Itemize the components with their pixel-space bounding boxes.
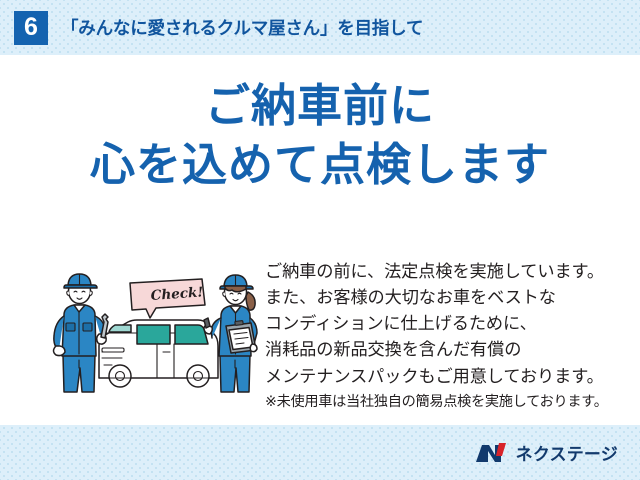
promo-banner: 6 「みんなに愛されるクルマ屋さん」を目指して ご納車前に 心を込めて点検します… [0,0,640,480]
brand-logo: ネクステージ [475,440,618,465]
mechanics-illustration: .ln { fill:none; stroke:#231f20; stroke-… [52,260,267,395]
step-number-badge: 6 [14,11,48,45]
header-title: 「みんなに愛されるクルマ屋さん」を目指して [61,15,423,40]
mechanics-illustration-svg: .ln { fill:none; stroke:#231f20; stroke-… [52,260,267,395]
copy-line-1: ご納車の前に、法定点検を実施しています。 [265,258,630,284]
content-panel: ご納車前に 心を込めて点検します .ln { fill:none; stroke… [0,55,640,425]
brand-name: ネクステージ [516,440,618,465]
copy-line-2: また、お客様の大切なお車をベストな [265,284,630,310]
copy-line-4: 消耗品の新品交換を含んだ有償の [265,336,630,362]
page-title: ご納車前に 心を込めて点検します [0,77,640,194]
banner-header: 6 「みんなに愛されるクルマ屋さん」を目指して [0,0,640,55]
headline-line-2: 心を込めて点検します [0,136,640,195]
check-speech-bubble: Check! [130,279,205,318]
body-copy: ご納車の前に、法定点検を実施しています。 また、お客様の大切なお車をベストな コ… [265,258,630,413]
banner-footer: ネクステージ [0,425,640,480]
copy-line-5: メンテナンスパックもご用意しております。 [265,363,630,389]
headline-line-1: ご納車前に [0,77,640,136]
copy-line-3: コンディションに仕上げるために、 [265,310,630,336]
nextage-n-logo-icon [475,442,509,464]
copy-footnote: ※未使用車は当社独自の簡易点検を実施しております。 [265,392,630,413]
van-illustration [99,320,218,387]
